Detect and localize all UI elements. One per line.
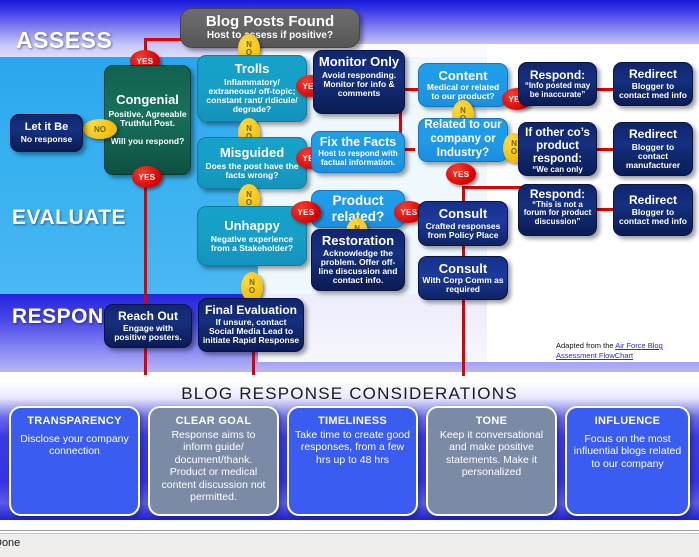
node-title: Respond:	[530, 188, 585, 201]
node-redirect-med-info-2[interactable]: Redirect Blogger to contact med info	[613, 184, 693, 236]
decision-yes-related[interactable]: YES	[446, 163, 476, 185]
connector-respond1-redirect1	[597, 88, 613, 91]
page-bottom-white	[0, 520, 699, 530]
connector-respond3-redirect3	[597, 208, 613, 211]
node-title: Unhappy	[224, 219, 280, 233]
connector-congenial-down	[144, 175, 147, 320]
node-title: Content	[438, 69, 487, 83]
consideration-card-influence: INFLUENCE Focus on the most influential …	[565, 406, 690, 516]
node-related-to-company[interactable]: Related to our company or Industry?	[418, 118, 508, 162]
node-final-evaluation[interactable]: Final Evaluation If unsure, contact Soci…	[198, 298, 304, 352]
card-heading: INFLUENCE	[573, 415, 682, 427]
node-body: “Info posted may be inaccurate”	[522, 82, 593, 99]
node-title: Restoration	[322, 234, 394, 248]
node-title: Reach Out	[118, 310, 178, 323]
node-consult-corp-comm[interactable]: Consult With Corp Comm as required	[418, 256, 508, 300]
connector-respond2-redirect2	[597, 148, 613, 151]
node-question: Will you respond?	[111, 137, 185, 146]
node-title: Monitor Only	[319, 55, 399, 69]
node-body: Host to respond with factual information…	[315, 150, 401, 167]
node-respond-inaccurate[interactable]: Respond: “Info posted may be inaccurate”	[518, 62, 597, 106]
node-subtitle: Host to assess if positive?	[207, 31, 333, 42]
evaluate-band-label: EVALUATE	[12, 206, 126, 230]
flowchart-page: ASSESS EVALUATE RESPOND Blog Posts Found…	[0, 0, 699, 557]
card-heading: TIMELINESS	[295, 415, 410, 427]
card-heading: TONE	[434, 415, 549, 427]
node-title: Let it Be	[25, 122, 68, 134]
node-title: Redirect	[629, 194, 677, 207]
node-redirect-manufacturer[interactable]: Redirect Blogger to contact manufacturer	[613, 122, 693, 176]
node-title: Related to our company or Industry?	[422, 119, 504, 160]
node-body: Positive, Agreeable Truthful Post.	[108, 110, 187, 128]
node-consult-policy[interactable]: Consult Crafted responses from Policy Pl…	[418, 201, 508, 246]
node-body: Medical or related to our product?	[422, 83, 504, 101]
assess-band-label: ASSESS	[16, 27, 112, 54]
card-body: Response aims to inform guide/ document/…	[156, 429, 271, 503]
node-body: Blogger to contact med info	[617, 82, 689, 100]
node-monitor-only[interactable]: Monitor Only Avoid responding. Monitor f…	[313, 50, 405, 114]
node-body: Engage with positive posters.	[108, 324, 188, 342]
consideration-card-tone: TONE Keep it conversational and make pos…	[426, 406, 557, 516]
node-congenial[interactable]: Congenial Positive, Agreeable Truthful P…	[104, 65, 191, 175]
node-other-company-product[interactable]: If other co’s product respond: “We can o…	[518, 122, 597, 176]
band-divider	[0, 372, 699, 381]
card-body: Keep it conversational and make positive…	[434, 429, 549, 479]
decision-no-letter-2: O	[249, 287, 255, 295]
node-let-it-be[interactable]: Let it Be No response	[10, 114, 83, 152]
node-title: Fix the Facts	[320, 136, 396, 149]
card-body: Take time to create good responses, from…	[295, 429, 410, 466]
node-fix-the-facts[interactable]: Fix the Facts Host to respond with factu…	[311, 131, 405, 173]
node-title: Redirect	[629, 128, 677, 141]
node-body: Blogger to contact med info	[617, 208, 689, 226]
node-body: Crafted responses from Policy Place	[422, 222, 504, 240]
status-bar-text: Done	[0, 537, 20, 549]
considerations-title: BLOG RESPONSE CONSIDERATIONS	[0, 384, 699, 404]
node-respond-not-forum[interactable]: Respond: “This is not a forum for produc…	[518, 184, 597, 236]
consideration-card-transparency: TRANSPARENCY Disclose your company conne…	[9, 406, 140, 516]
node-title: Consult	[439, 207, 487, 221]
decision-no-congenial[interactable]: NO	[83, 119, 117, 139]
node-title: If other co’s product respond:	[522, 127, 593, 166]
node-title: Congenial	[116, 93, 179, 107]
consideration-card-clear-goal: CLEAR GOAL Response aims to inform guide…	[148, 406, 279, 516]
node-body: If unsure, contact Social Media Lead to …	[202, 318, 300, 346]
node-title: Final Evaluation	[205, 304, 297, 317]
decision-no-letter-2: O	[511, 148, 517, 156]
card-body: Focus on the most influential blogs rela…	[573, 433, 682, 470]
node-body: Does the post have the facts wrong?	[201, 162, 303, 180]
browser-status-bar	[0, 533, 699, 557]
node-body: “This is not a forum for product discuss…	[522, 201, 593, 227]
node-blog-posts-found[interactable]: Blog Posts Found Host to assess if posit…	[180, 8, 360, 48]
decision-yes-congenial[interactable]: YES	[132, 166, 162, 188]
node-body: Blogger to contact manufacturer	[617, 143, 689, 171]
node-body: No response	[21, 135, 73, 144]
node-title: Trolls	[235, 62, 270, 76]
connector-related-to-consult	[462, 186, 522, 189]
card-body: Disclose your company connection	[17, 433, 132, 458]
card-heading: CLEAR GOAL	[156, 415, 271, 427]
node-title: Consult	[439, 262, 487, 276]
node-body: Acknowledge the problem. Offer off-line …	[315, 249, 401, 286]
decision-yes-unhappy[interactable]: YES	[291, 201, 321, 223]
node-body: Avoid responding. Monitor for info & com…	[317, 71, 401, 99]
consideration-card-timeliness: TIMELINESS Take time to create good resp…	[287, 406, 418, 516]
node-redirect-med-info-1[interactable]: Redirect Blogger to contact med info	[613, 62, 693, 106]
node-title: Misguided	[220, 146, 284, 160]
node-trolls[interactable]: Trolls Inflammatory/ extraneous/ off-top…	[197, 55, 307, 122]
connector-reachout-down	[144, 345, 147, 375]
node-title: Redirect	[629, 68, 677, 81]
node-body: With Corp Comm as required	[422, 276, 504, 294]
node-title: Blog Posts Found	[206, 14, 334, 30]
node-body: “We can only comment on our products	[522, 166, 593, 176]
node-misguided[interactable]: Misguided Does the post have the facts w…	[197, 137, 307, 189]
node-body: Negative experience from a Stakeholder?	[201, 235, 303, 253]
node-unhappy[interactable]: Unhappy Negative experience from a Stake…	[197, 206, 307, 266]
attribution-note: Adapted from the Air Force Blog Assessme…	[556, 341, 696, 361]
node-reach-out[interactable]: Reach Out Engage with positive posters.	[104, 304, 192, 348]
card-heading: TRANSPARENCY	[17, 415, 132, 427]
node-title: Respond:	[530, 69, 585, 82]
node-restoration[interactable]: Restoration Acknowledge the problem. Off…	[311, 229, 405, 291]
node-body: Inflammatory/ extraneous/ off-topic; con…	[201, 78, 303, 115]
attribution-prefix: Adapted from the	[556, 341, 615, 350]
